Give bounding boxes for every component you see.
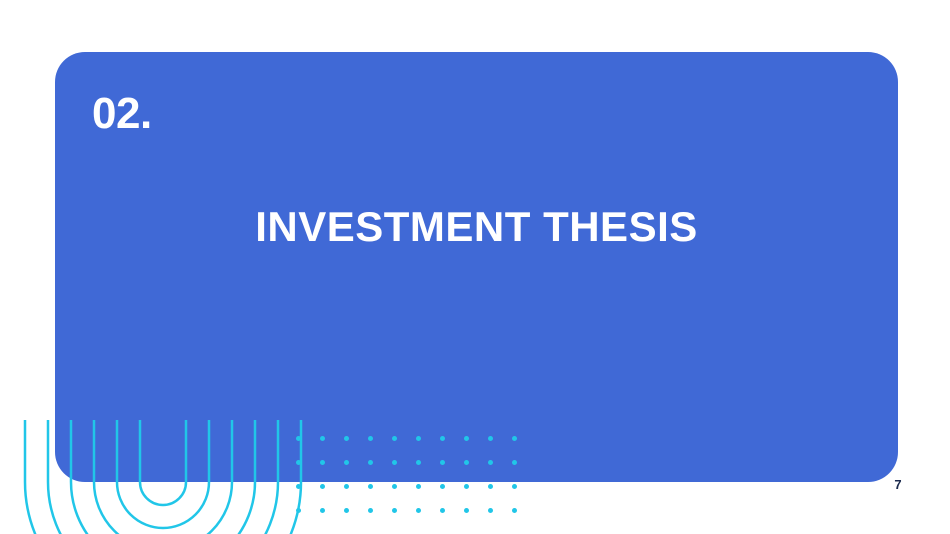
grid-dot [488, 484, 493, 489]
section-number: 02. [92, 92, 152, 136]
grid-dot [464, 508, 469, 513]
grid-dot [296, 484, 301, 489]
grid-dot [320, 508, 325, 513]
title-panel [55, 52, 898, 482]
slide-canvas: 02. INVESTMENT THESIS 7 [0, 0, 950, 534]
grid-dot [440, 484, 445, 489]
grid-dot [344, 484, 349, 489]
grid-dot [440, 508, 445, 513]
grid-dot [344, 508, 349, 513]
grid-dot [368, 484, 373, 489]
page-title: INVESTMENT THESIS [55, 203, 898, 251]
grid-dot [320, 484, 325, 489]
grid-dot [392, 484, 397, 489]
grid-dot [392, 508, 397, 513]
grid-dot [416, 484, 421, 489]
grid-dot [296, 508, 301, 513]
grid-dot [464, 484, 469, 489]
grid-dot [512, 508, 517, 513]
page-number: 7 [884, 478, 912, 491]
grid-dot [416, 508, 421, 513]
grid-dot [368, 508, 373, 513]
grid-dot [488, 508, 493, 513]
grid-dot [512, 484, 517, 489]
